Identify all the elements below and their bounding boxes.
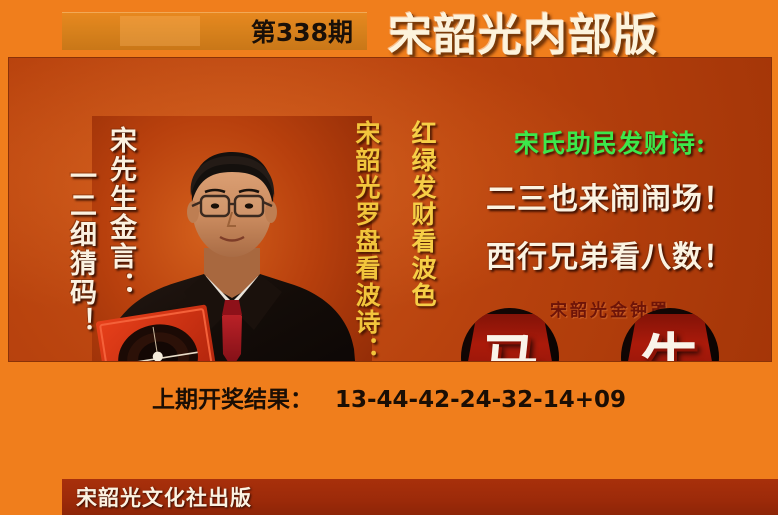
page-title: 宋韶光内部版 (388, 0, 658, 63)
result-label: 上期开奖结果： (152, 387, 313, 413)
vertical-text-color-fortune: 红绿发财看波色 (404, 120, 440, 309)
poem-line-1: 二三也来闹闹场！ (441, 174, 772, 218)
poem-line-2: 西行兄弟看八数！ (441, 232, 772, 276)
zodiac-circle-ox[interactable]: 牛 (621, 308, 719, 362)
issue-bar-highlight (120, 16, 200, 46)
zodiac-circle-horse[interactable]: 马 (461, 308, 559, 362)
zodiac-glyph: 牛 (621, 308, 719, 362)
zodiac-glyph: 马 (461, 308, 559, 362)
vertical-text-compass-poem: 宋韶光罗盘看波诗： (348, 120, 384, 362)
vertical-text-master-words: 宋先生金言： (101, 126, 140, 300)
page-header: 第338期 宋韶光内部版 (0, 0, 778, 58)
issue-number-bar: 第338期 (62, 12, 367, 50)
main-poster-panel: 宋先生金言： 一二细猜码！ 宋韶光罗盘看波诗： 红绿发财看波色 宋氏助民发财诗:… (8, 57, 772, 362)
poem-title: 宋氏助民发财诗: (441, 124, 772, 160)
footer-band: 宋韶光文化社出版 (62, 479, 778, 515)
publisher-label: 宋韶光文化社出版 (76, 482, 252, 512)
previous-draw-result: 上期开奖结果： 13-44-42-24-32-14+09 (0, 380, 778, 414)
issue-number-label: 第338期 (251, 13, 353, 49)
vertical-text-guess-code: 一二细猜码！ (61, 162, 100, 336)
result-numbers: 13-44-42-24-32-14+09 (335, 387, 626, 413)
fortune-poem-block: 宋氏助民发财诗: 二三也来闹闹场！ 西行兄弟看八数！ 宋韶光金钟罩 (441, 118, 772, 318)
